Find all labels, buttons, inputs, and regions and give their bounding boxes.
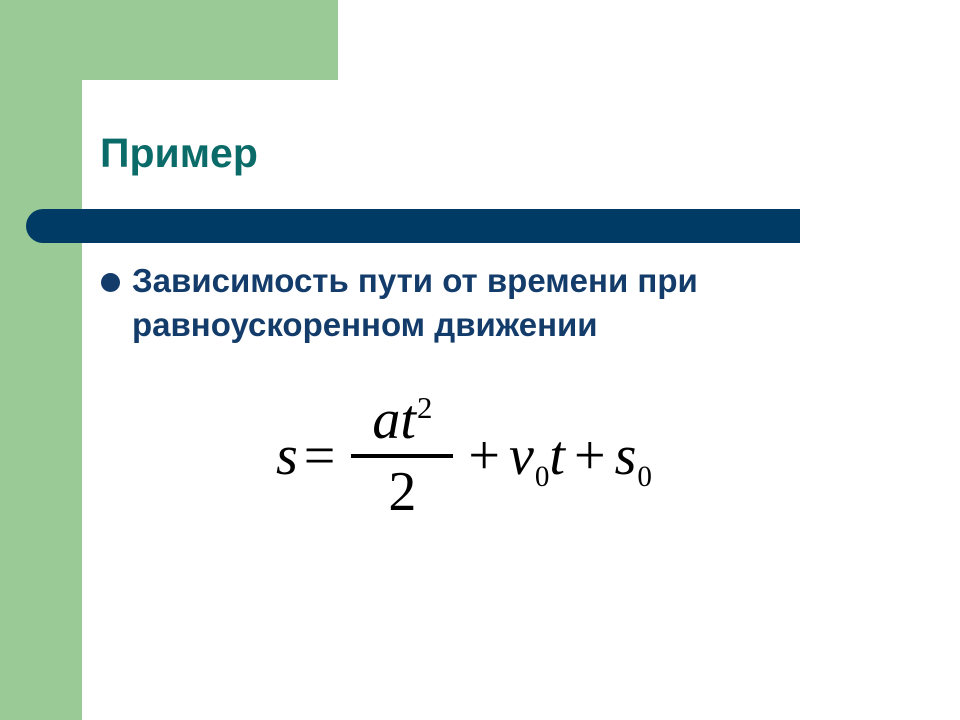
equation-numerator-base: at bbox=[372, 389, 416, 451]
equation-velocity-subscript: 0 bbox=[535, 461, 550, 493]
bullet-item-label: Зависимость пути от времени при равноуск… bbox=[132, 259, 877, 346]
equation-initial-position-base: s bbox=[615, 425, 637, 487]
bullet-list: Зависимость пути от времени при равноуск… bbox=[101, 259, 891, 346]
equation-term-velocity: v0t bbox=[509, 424, 565, 488]
green-left-band bbox=[0, 0, 82, 720]
equation-fraction: at2 2 bbox=[351, 388, 453, 524]
equation-equals-sign: = bbox=[304, 424, 336, 488]
slide-canvas: Пример Зависимость пути от времени при р… bbox=[0, 0, 960, 720]
equation-velocity-time-factor: t bbox=[549, 425, 565, 487]
bullet-dot-icon bbox=[101, 273, 120, 292]
equation-lhs: s bbox=[276, 424, 298, 488]
equation-term-initial-position: s0 bbox=[615, 424, 652, 488]
page-title: Пример bbox=[100, 131, 258, 176]
equation-block: s = at2 2 + v0t + s0 bbox=[276, 388, 652, 524]
equation-numerator-exponent: 2 bbox=[417, 391, 432, 425]
green-top-block bbox=[0, 0, 338, 80]
list-item: Зависимость пути от времени при равноуск… bbox=[101, 259, 891, 346]
equation-plus-1: + bbox=[468, 424, 500, 488]
equation-fraction-numerator: at2 bbox=[364, 388, 440, 454]
equation-plus-2: + bbox=[574, 424, 606, 488]
equation-initial-position-subscript: 0 bbox=[637, 461, 652, 493]
title-divider-bar bbox=[26, 209, 800, 243]
equation-fraction-denominator: 2 bbox=[380, 458, 424, 524]
equation-velocity-base: v bbox=[509, 425, 534, 487]
